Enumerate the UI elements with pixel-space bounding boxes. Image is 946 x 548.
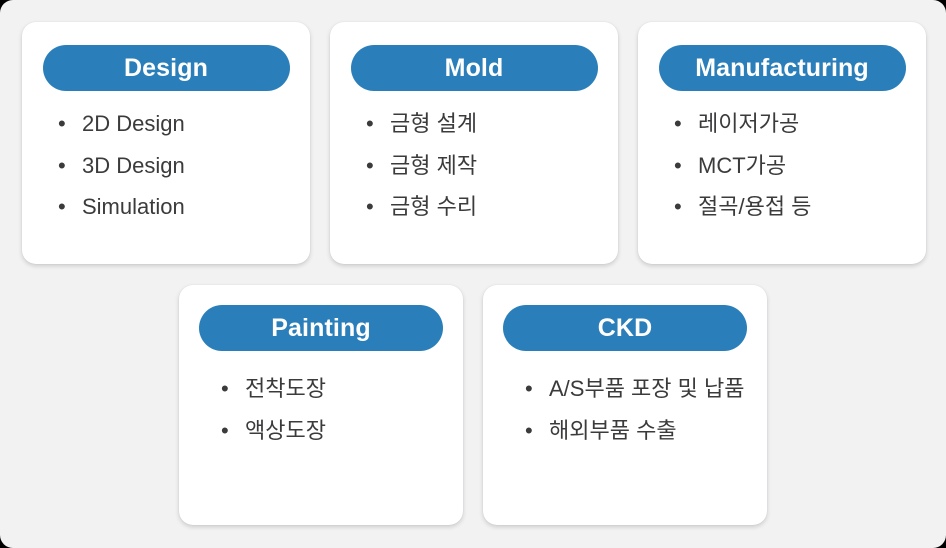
process-capability-board: Design • 2D Design • 3D Design • Simulat… (0, 0, 946, 548)
list-item: • 레이저가공 (674, 110, 913, 138)
item-list-painting: • 전착도장 • 액상도장 (179, 351, 463, 458)
card-mold[interactable]: Mold • 금형 설계 • 금형 제작 • 금형 수리 (330, 22, 618, 264)
card-design[interactable]: Design • 2D Design • 3D Design • Simulat… (22, 22, 310, 264)
bullet-icon: • (674, 193, 682, 221)
list-item: • 금형 제작 (366, 152, 605, 180)
item-list-ckd: • A/S부품 포장 및 납품 • 해외부품 수출 (483, 351, 767, 458)
bullet-icon: • (58, 110, 66, 138)
list-item: • MCT가공 (674, 152, 913, 180)
bullet-icon: • (58, 193, 66, 221)
list-item: • 금형 수리 (366, 193, 605, 221)
list-item-label: 금형 설계 (390, 110, 605, 138)
bullet-icon: • (366, 110, 374, 138)
list-item: • 2D Design (58, 110, 297, 138)
bullet-icon: • (58, 152, 66, 180)
card-painting[interactable]: Painting • 전착도장 • 액상도장 (179, 285, 463, 525)
list-item-label: 전착도장 (245, 375, 450, 403)
list-item-label: A/S부품 포장 및 납품 (549, 375, 754, 403)
bullet-icon: • (221, 417, 229, 445)
list-item-label: 레이저가공 (698, 110, 913, 138)
list-item: • 3D Design (58, 152, 297, 180)
item-list-mold: • 금형 설계 • 금형 제작 • 금형 수리 (330, 91, 618, 235)
list-item: • 절곡/용접 등 (674, 193, 913, 221)
list-item-label: Simulation (82, 193, 297, 221)
item-list-manufacturing: • 레이저가공 • MCT가공 • 절곡/용접 등 (638, 91, 926, 235)
list-item-label: 3D Design (82, 152, 297, 180)
bottom-row: Painting • 전착도장 • 액상도장 CKD • A/S부품 포장 및 … (179, 285, 767, 525)
bullet-icon: • (525, 417, 533, 445)
list-item-label: 절곡/용접 등 (698, 193, 913, 221)
card-title-design: Design (43, 45, 290, 91)
card-title-painting: Painting (199, 305, 443, 351)
card-title-ckd: CKD (503, 305, 747, 351)
list-item-label: 액상도장 (245, 417, 450, 445)
list-item: • A/S부품 포장 및 납품 (525, 375, 754, 403)
list-item: • 액상도장 (221, 417, 450, 445)
list-item-label: 해외부품 수출 (549, 417, 754, 445)
list-item: • 전착도장 (221, 375, 450, 403)
bullet-icon: • (221, 375, 229, 403)
list-item-label: 2D Design (82, 110, 297, 138)
list-item-label: 금형 수리 (390, 193, 605, 221)
bullet-icon: • (366, 193, 374, 221)
item-list-design: • 2D Design • 3D Design • Simulation (22, 91, 310, 235)
bullet-icon: • (366, 152, 374, 180)
bullet-icon: • (674, 110, 682, 138)
card-title-mold: Mold (351, 45, 598, 91)
bullet-icon: • (525, 375, 533, 403)
list-item: • Simulation (58, 193, 297, 221)
list-item-label: MCT가공 (698, 152, 913, 180)
list-item: • 금형 설계 (366, 110, 605, 138)
card-ckd[interactable]: CKD • A/S부품 포장 및 납품 • 해외부품 수출 (483, 285, 767, 525)
bullet-icon: • (674, 152, 682, 180)
card-manufacturing[interactable]: Manufacturing • 레이저가공 • MCT가공 • 절곡/용접 등 (638, 22, 926, 264)
top-row: Design • 2D Design • 3D Design • Simulat… (22, 22, 926, 264)
list-item-label: 금형 제작 (390, 152, 605, 180)
list-item: • 해외부품 수출 (525, 417, 754, 445)
card-title-manufacturing: Manufacturing (659, 45, 906, 91)
